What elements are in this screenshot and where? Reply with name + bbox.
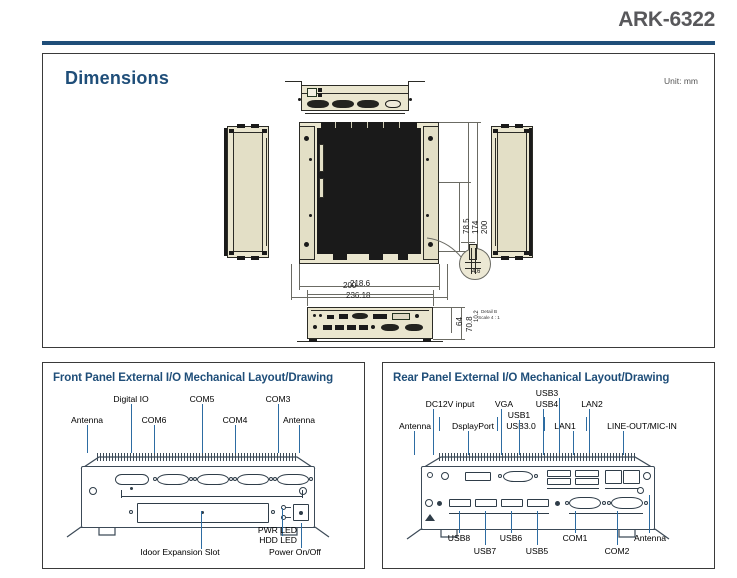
separator-lan1 [586,417,587,431]
dim-64: 64 [455,317,464,326]
port-com3 [277,474,309,485]
detail-b-name: Detail B [468,309,510,315]
leader-digital-io [131,404,132,453]
unit-label: Unit: mm [664,76,698,86]
leader-com3 [278,404,279,453]
rear-panel-heading: Rear Panel External I/O Mechanical Layou… [393,372,669,384]
detail-b-scale: Scale 4 : 1 [468,315,510,321]
antenna-hole-rear-right [637,487,644,494]
port-usb1 [547,470,571,477]
separator-antenna [439,417,440,431]
front-label-com4: COM4 [211,415,259,425]
port-usb6 [501,499,523,507]
front-label-com3: COM3 [256,394,300,404]
rear-label-usb1: USB1 [500,410,538,420]
leader-com5 [202,404,203,453]
port-com2 [611,497,643,509]
rear-label-usb5: USB5 [515,546,559,556]
front-label-power-onoff: Power On/Off [250,547,340,557]
leader-usb6 [511,511,512,533]
leader-usb8 [459,511,460,533]
front-label-com6: COM6 [130,415,178,425]
leader-com6 [154,425,155,453]
rear-label-dc12v: DC12V input [414,399,486,409]
front-chassis-drawing [59,451,351,536]
rear-label-displayport: DsplayPort [441,421,505,431]
page-header: ARK-6322 [0,0,737,48]
front-label-com5: COM5 [180,394,224,404]
rear-label-usb7: USB7 [463,546,507,556]
header-divider [42,41,715,45]
port-usb4 [575,478,599,485]
leader-com2 [617,511,618,545]
port-usb3 [547,478,571,485]
rear-label-antenna-right: Antenna [623,533,677,543]
front-panel-heading: Front Panel External I/O Mechanical Layo… [53,372,333,384]
rear-label-lan1: LAN1 [546,421,584,431]
front-label-expansion-slot: Idoor Expansion Slot [119,547,241,557]
rear-view-drawing [293,286,473,344]
port-lan1 [605,470,622,484]
dim-70-8: 70.8 [465,316,474,332]
leader-antenna-left [87,425,88,453]
dimensions-heading: Dimensions [65,68,169,89]
antenna-hole-right [299,487,307,495]
leader-usb1 [519,420,520,455]
leader-antenna-right [299,425,300,453]
rear-label-line-out-mic-in: LINE-OUT/MIC-IN [588,421,696,431]
rear-label-usb3: USB3 [527,388,567,398]
leader-power-button [301,523,302,548]
leader-usb5 [537,511,538,545]
leader-com4 [235,425,236,453]
port-usb8 [449,499,471,507]
leader-antenna-rear-right [649,495,650,533]
leader-dc12v [433,409,434,455]
separator-displayport [497,417,498,431]
port-digital-io [115,474,149,485]
port-lan2 [623,470,640,484]
rear-label-usb30: USB3.0 [499,421,543,431]
port-usb2 [575,470,599,477]
port-displayport [465,472,491,481]
rear-label-usb4: USB4 [527,399,567,409]
leader-expansion-slot [201,511,202,549]
rear-label-usb6: USB6 [489,533,533,543]
detail-b-callout [425,204,495,274]
port-usb5 [527,499,549,507]
front-panel-io-section: Front Panel External I/O Mechanical Layo… [42,362,365,569]
audio-jack [643,472,651,480]
leader-lan2 [589,409,590,455]
port-com1 [569,497,601,509]
rear-label-usb8: USB8 [437,533,481,543]
front-label-antenna-left: Antenna [59,415,115,425]
leader-com1 [575,511,576,533]
rear-label-lan2: LAN2 [573,399,611,409]
leader-usb7 [485,511,486,545]
antenna-hole-left [89,487,97,495]
port-com4 [237,474,269,485]
antenna-hole-rear-left [427,472,433,478]
port-usb7 [475,499,497,507]
rear-label-com1: COM1 [553,533,597,543]
leader-usb3 [559,398,560,455]
rear-label-vga: VGA [487,399,521,409]
page-title: ARK-6322 [618,8,715,32]
leader-usb4 [543,409,544,455]
rear-panel-io-section: Rear Panel External I/O Mechanical Layou… [382,362,715,569]
front-label-hdd-led: HDD LED [233,535,297,545]
port-com5 [197,474,229,485]
rear-chassis-drawing [397,451,699,539]
port-vga [503,471,533,482]
dim-200-depth: 200 [343,281,356,290]
separator-usb30 [544,417,545,431]
rear-label-com2: COM2 [595,546,639,556]
top-view-drawing [285,72,425,117]
dim-4-6: 4.6 [472,269,480,275]
front-label-digital-io: Digital IO [101,394,161,404]
front-label-pwr-led: PWR LED [233,525,297,535]
front-label-antenna-right: Antenna [271,415,327,425]
dc12v-jack [441,472,449,480]
left-side-view-drawing [221,126,275,258]
dimensions-panel: Dimensions Unit: mm [42,53,715,348]
right-side-view-drawing [489,126,543,258]
leader-vga [501,409,502,455]
port-com6 [157,474,189,485]
